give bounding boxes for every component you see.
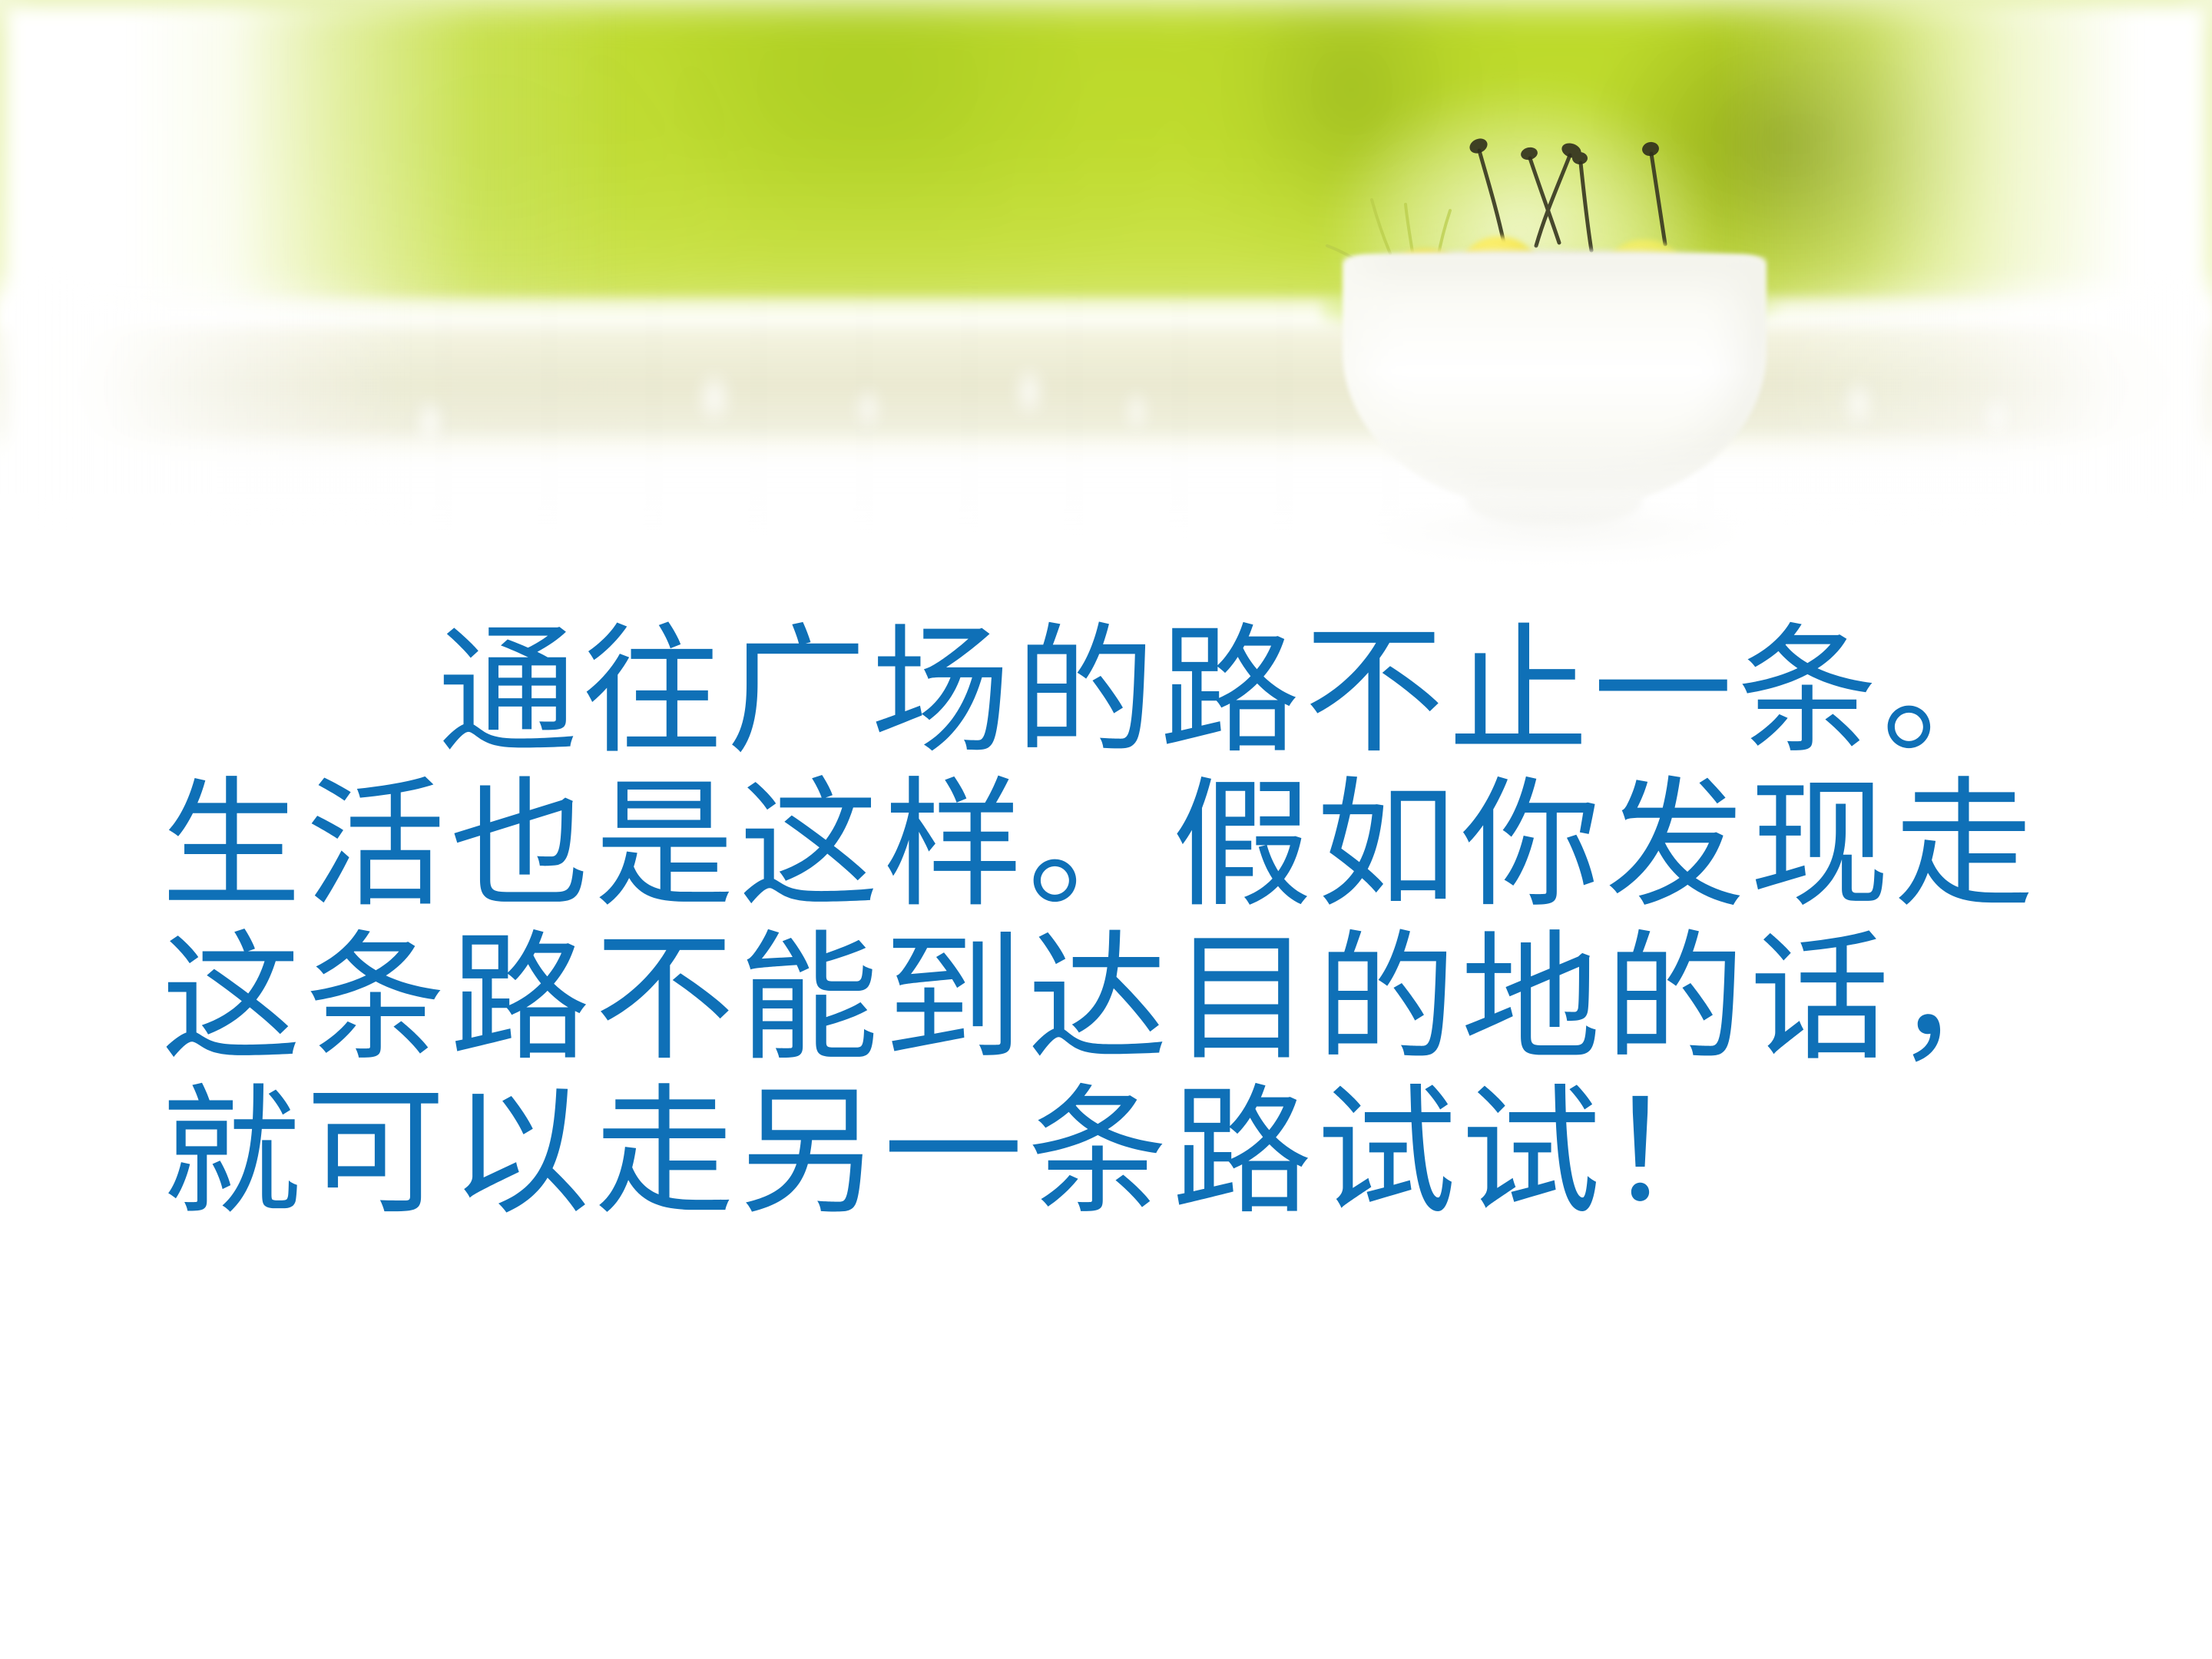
presentation-slide: 通往广场的路不止一条。 生活也是这样。假如你发现走 这条路不能到达目的地的话， … <box>0 0 2212 1659</box>
photo-bottom-fade <box>0 430 2212 584</box>
slide-body-text: 通往广场的路不止一条。 生活也是这样。假如你发现走 这条路不能到达目的地的话， … <box>161 614 2043 1229</box>
body-line-4: 就可以走另一条路试试！ <box>161 1075 2043 1229</box>
body-line-3: 这条路不能到达目的地的话， <box>161 922 2043 1075</box>
body-line-2: 生活也是这样。假如你发现走 <box>161 768 2043 922</box>
header-photo <box>0 0 2212 584</box>
body-line-1: 通往广场的路不止一条。 <box>161 614 2043 768</box>
